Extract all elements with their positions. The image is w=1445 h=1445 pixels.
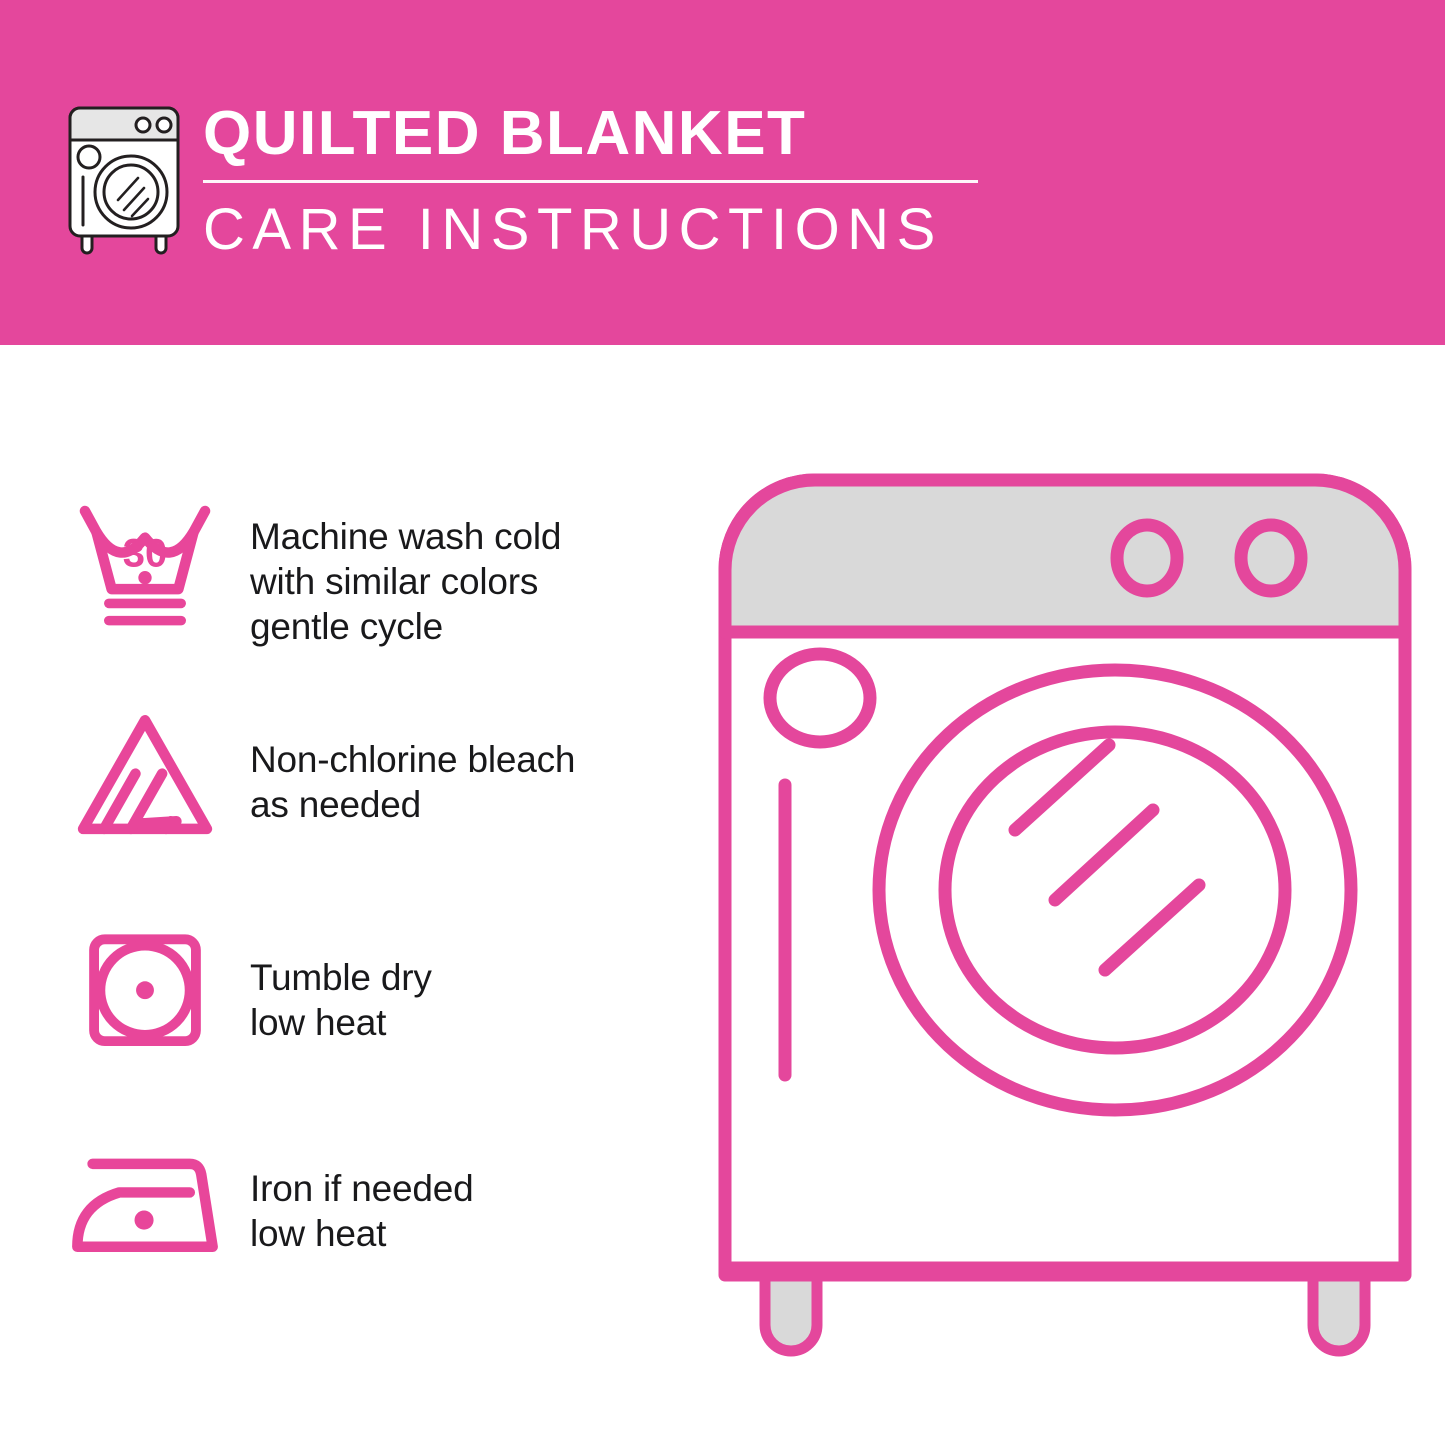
care-instruction-list: 30 Machine wash cold with similar colors… [0, 345, 700, 1445]
washer-knob-right [1241, 525, 1301, 591]
title-divider [203, 180, 978, 183]
list-item: 30 Machine wash cold with similar colors… [60, 490, 680, 649]
list-item: Non-chlorine bleach as needed [60, 705, 680, 848]
non-chlorine-bleach-triangle-icon [60, 705, 230, 848]
list-item-label: Non-chlorine bleach as needed [250, 705, 575, 827]
wash-temperature-label: 30 [123, 531, 168, 575]
page-subtitle: CARE INSTRUCTIONS [203, 197, 993, 263]
list-item-label: Iron if needed low heat [250, 1140, 473, 1256]
header-banner: QUILTED BLANKET CARE INSTRUCTIONS [0, 0, 1445, 345]
list-item-label: Machine wash cold with similar colors ge… [250, 490, 561, 649]
header-title-block: QUILTED BLANKET CARE INSTRUCTIONS [203, 96, 993, 263]
list-item: Tumble dry low heat [60, 925, 680, 1059]
washing-machine-logo-icon [60, 100, 190, 255]
tumble-dry-low-icon [60, 925, 230, 1059]
list-item-label: Tumble dry low heat [250, 925, 432, 1045]
wash-tub-30-gentle-icon: 30 [60, 490, 230, 633]
iron-low-heat-icon [60, 1140, 230, 1283]
washer-door-inner [945, 732, 1285, 1048]
detergent-dispenser-icon [770, 654, 870, 742]
page-title: QUILTED BLANKET [203, 96, 993, 172]
list-item: Iron if needed low heat [60, 1140, 680, 1283]
washer-legs [765, 1270, 1365, 1351]
front-load-washing-machine-illustration [715, 470, 1415, 1370]
care-instructions-page: QUILTED BLANKET CARE INSTRUCTIONS 30 [0, 0, 1445, 1445]
washer-knob-left [1117, 525, 1177, 591]
